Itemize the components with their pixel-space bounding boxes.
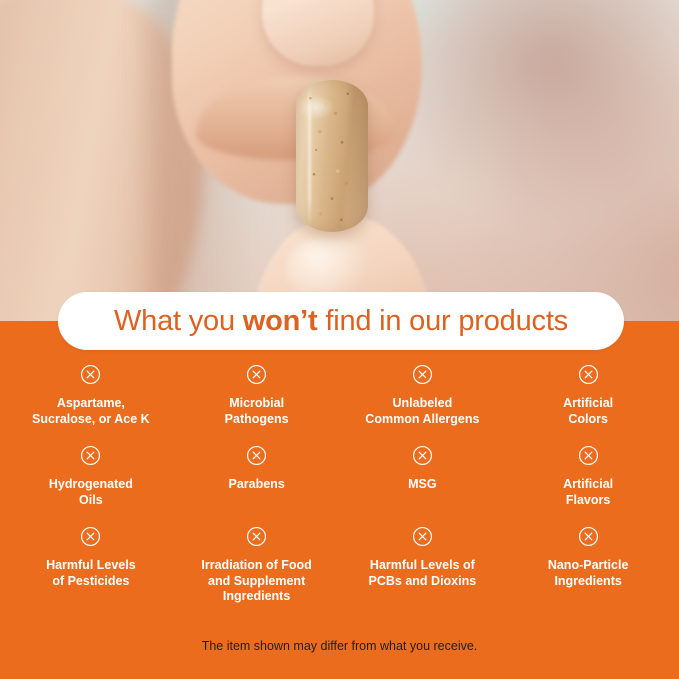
disclaimer-text: The item shown may differ from what you … xyxy=(0,639,679,653)
excluded-ingredient-label: Harmful Levels of PCBs and Dioxins xyxy=(369,558,477,589)
circled-x-icon xyxy=(578,445,599,466)
excluded-ingredient-label: MSG xyxy=(408,477,436,493)
excluded-ingredient-label: Nano-Particle Ingredients xyxy=(548,558,629,589)
circled-x-icon xyxy=(412,364,433,385)
product-photo xyxy=(0,0,679,321)
circled-x-icon xyxy=(412,445,433,466)
circled-x-icon xyxy=(246,526,267,547)
excluded-ingredient-label: Artificial Colors xyxy=(563,396,613,427)
excluded-ingredient-label: Unlabeled Common Allergens xyxy=(365,396,479,427)
circled-x-icon xyxy=(80,526,101,547)
excluded-ingredient-label: Parabens xyxy=(228,477,284,493)
excluded-ingredient-item: Artificial Flavors xyxy=(505,441,671,508)
excluded-ingredient-item: Harmful Levels of Pesticides xyxy=(8,522,174,605)
excluded-ingredient-label: Irradiation of Food and Supplement Ingre… xyxy=(201,558,311,605)
excluded-ingredient-item: Nano-Particle Ingredients xyxy=(505,522,671,605)
circled-x-icon xyxy=(80,364,101,385)
excluded-ingredient-label: Microbial Pathogens xyxy=(225,396,289,427)
headline-pill: What you won’t find in our products xyxy=(58,292,624,350)
excluded-ingredient-label: Hydrogenated Oils xyxy=(49,477,133,508)
excluded-ingredient-item: MSG xyxy=(340,441,506,508)
circled-x-icon xyxy=(578,364,599,385)
excluded-ingredient-label: Aspartame, Sucralose, or Ace K xyxy=(32,396,150,427)
product-claims-banner: What you won’t find in our products Aspa… xyxy=(0,0,679,679)
excluded-ingredient-item: Unlabeled Common Allergens xyxy=(340,360,506,427)
title-emphasis: won’t xyxy=(243,305,318,337)
tablet-seam xyxy=(308,86,311,226)
circled-x-icon xyxy=(578,526,599,547)
circled-x-icon xyxy=(412,526,433,547)
excluded-ingredient-label: Harmful Levels of Pesticides xyxy=(46,558,136,589)
excluded-ingredient-item: Aspartame, Sucralose, or Ace K xyxy=(8,360,174,427)
title-prefix: What you xyxy=(114,305,243,337)
excluded-ingredient-label: Artificial Flavors xyxy=(563,477,613,508)
excluded-ingredient-item: Irradiation of Food and Supplement Ingre… xyxy=(174,522,340,605)
supplement-tablet xyxy=(296,80,368,232)
circled-x-icon xyxy=(246,364,267,385)
excluded-ingredients-grid: Aspartame, Sucralose, or Ace KMicrobial … xyxy=(0,360,679,605)
excluded-ingredient-item: Parabens xyxy=(174,441,340,508)
page-title: What you won’t find in our products xyxy=(114,305,568,338)
title-suffix: find in our products xyxy=(317,305,568,337)
tablet-shading xyxy=(346,80,368,232)
circled-x-icon xyxy=(80,445,101,466)
excluded-ingredient-item: Hydrogenated Oils xyxy=(8,441,174,508)
excluded-ingredient-item: Harmful Levels of PCBs and Dioxins xyxy=(340,522,506,605)
circled-x-icon xyxy=(246,445,267,466)
excluded-ingredient-item: Microbial Pathogens xyxy=(174,360,340,427)
excluded-ingredient-item: Artificial Colors xyxy=(505,360,671,427)
